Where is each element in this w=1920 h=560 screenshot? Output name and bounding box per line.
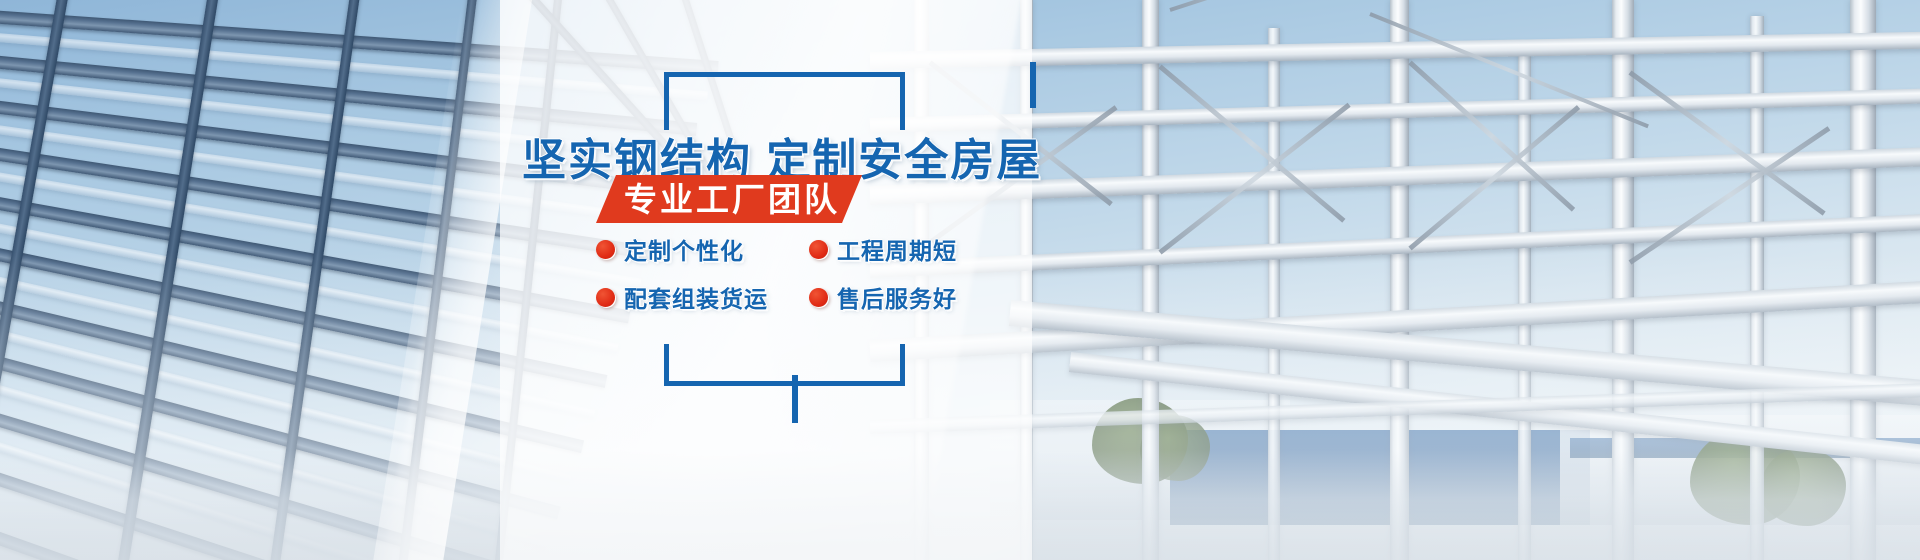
list-item: 售后服务好 bbox=[809, 280, 1016, 314]
banner-content: 坚实钢结构 定制安全房屋 专业工厂团队 定制个性化 工程周期短 配套组装货运 bbox=[500, 0, 1060, 560]
badge-label: 专业工厂团队 bbox=[624, 183, 840, 216]
feature-list: 定制个性化 工程周期短 配套组装货运 售后服务好 bbox=[596, 232, 1016, 314]
badge-wrapper: 专业工厂团队 bbox=[596, 175, 862, 223]
status-badge: 专业工厂团队 bbox=[596, 175, 862, 223]
red-dot-icon bbox=[809, 240, 828, 259]
list-item: 工程周期短 bbox=[809, 232, 1016, 266]
hero-banner: 坚实钢结构 定制安全房屋 专业工厂团队 定制个性化 工程周期短 配套组装货运 bbox=[0, 0, 1920, 560]
red-dot-icon bbox=[809, 288, 828, 307]
feature-label: 定制个性化 bbox=[624, 232, 744, 266]
red-dot-icon bbox=[596, 288, 615, 307]
list-item: 配套组装货运 bbox=[596, 280, 803, 314]
list-item: 定制个性化 bbox=[596, 232, 803, 266]
feature-label: 配套组装货运 bbox=[624, 280, 768, 314]
red-dot-icon bbox=[596, 240, 615, 259]
feature-label: 售后服务好 bbox=[837, 280, 957, 314]
feature-label: 工程周期短 bbox=[837, 232, 957, 266]
